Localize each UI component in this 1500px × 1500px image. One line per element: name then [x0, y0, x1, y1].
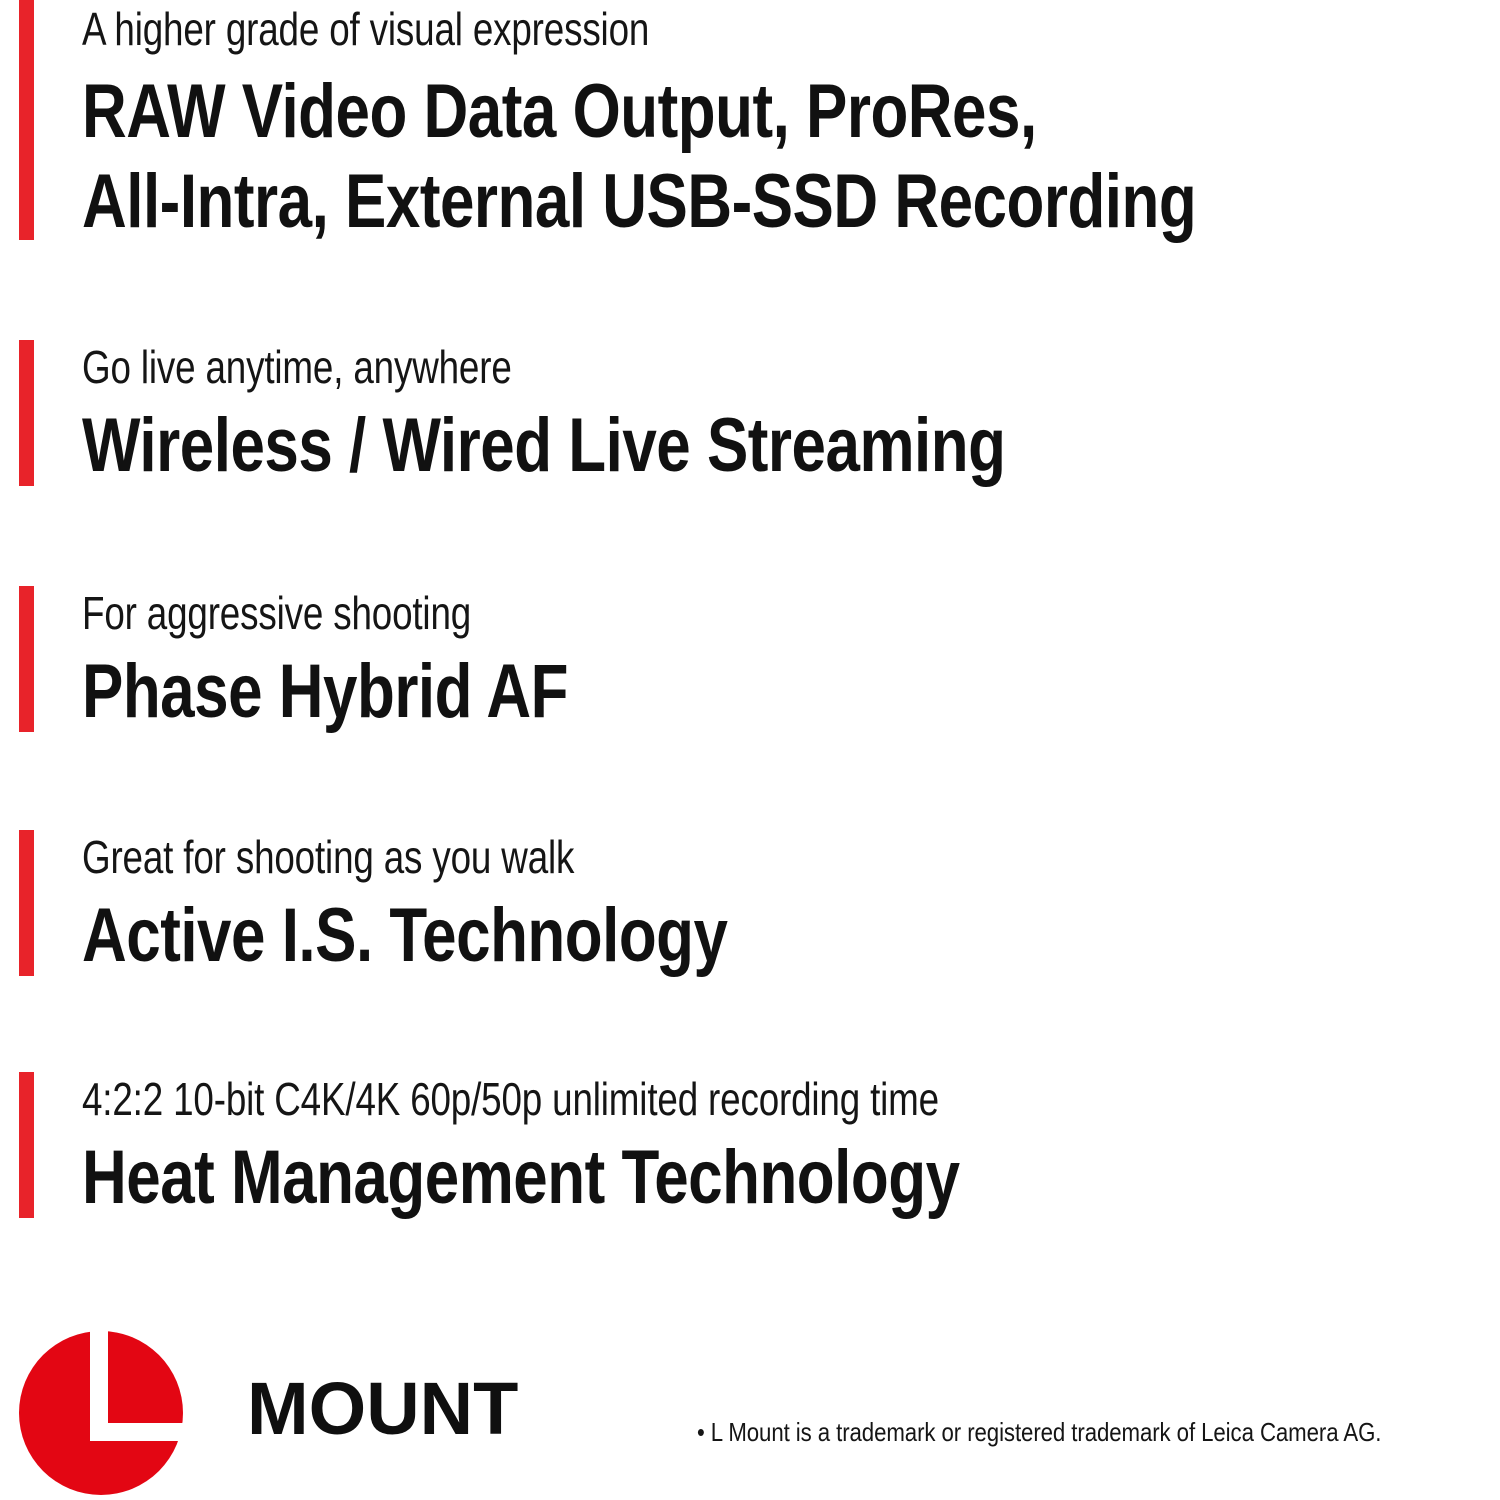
feature-block-heat-management: 4:2:2 10-bit C4K/4K 60p/50p unlimited re…	[0, 1072, 1500, 1222]
feature-eyebrow: For aggressive shooting	[82, 590, 471, 636]
feature-headline-line-1: RAW Video Data Output, ProRes,	[82, 74, 1037, 150]
footer: MOUNT • L Mount is a trademark or regist…	[0, 1320, 1500, 1500]
feature-block-phase-hybrid-af: For aggressive shooting Phase Hybrid AF	[0, 586, 1500, 736]
feature-eyebrow: 4:2:2 10-bit C4K/4K 60p/50p unlimited re…	[82, 1076, 939, 1122]
feature-headline-line-1: Phase Hybrid AF	[82, 654, 568, 730]
feature-headline-line-2: All-Intra, External USB-SSD Recording	[82, 164, 1196, 240]
l-mount-logo-icon	[18, 1330, 184, 1496]
feature-eyebrow: A higher grade of visual expression	[82, 6, 649, 52]
feature-block-raw-video: A higher grade of visual expression RAW …	[0, 0, 1500, 245]
feature-list-page: A higher grade of visual expression RAW …	[0, 0, 1500, 1500]
feature-headline-line-1: Active I.S. Technology	[82, 898, 727, 974]
feature-block-live-streaming: Go live anytime, anywhere Wireless / Wir…	[0, 340, 1500, 490]
feature-block-active-is: Great for shooting as you walk Active I.…	[0, 830, 1500, 980]
accent-bar	[19, 586, 34, 732]
feature-headline-line-1: Wireless / Wired Live Streaming	[82, 408, 1005, 484]
accent-bar	[19, 830, 34, 976]
accent-bar	[19, 1072, 34, 1218]
trademark-notice: • L Mount is a trademark or registered t…	[697, 1419, 1381, 1445]
feature-eyebrow: Go live anytime, anywhere	[82, 344, 512, 390]
accent-bar	[19, 0, 34, 240]
feature-headline-line-1: Heat Management Technology	[82, 1140, 960, 1216]
accent-bar	[19, 340, 34, 486]
feature-eyebrow: Great for shooting as you walk	[82, 834, 574, 880]
mount-wordmark: MOUNT	[247, 1372, 518, 1446]
